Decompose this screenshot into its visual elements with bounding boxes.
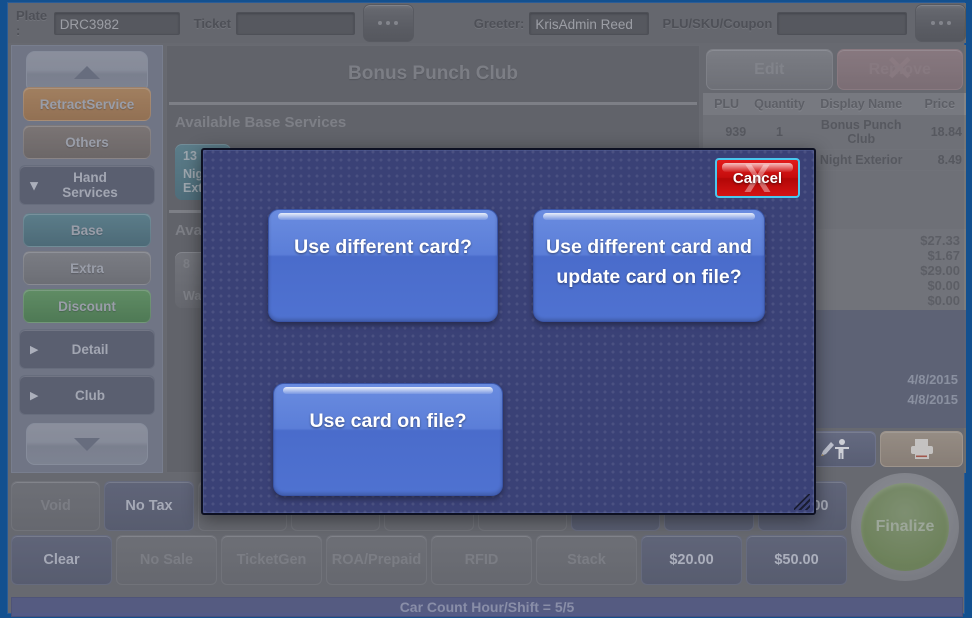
function-button-rfid[interactable]: RFID xyxy=(431,535,532,585)
chevron-down-icon: ▾ xyxy=(20,176,48,194)
greeter-input[interactable]: KrisAdmin Reed xyxy=(529,12,648,35)
page-title: Bonus Punch Club xyxy=(167,46,699,102)
printer-icon-button[interactable] xyxy=(880,431,963,467)
table-header-row: PLU Quantity Display Name Price xyxy=(703,93,966,115)
cancel-button[interactable]: X Cancel xyxy=(715,158,800,198)
use-different-card-label: Use different card? xyxy=(282,232,484,262)
customer-date-1: 4/8/2015 xyxy=(907,370,958,390)
use-different-card-and-update-label: Use different card and update card on fi… xyxy=(534,232,764,292)
finalize-button-label: Finalize xyxy=(861,483,949,571)
cancel-button-label: Cancel xyxy=(733,170,782,187)
function-button-label: Clear xyxy=(43,552,79,568)
ticket-more-button[interactable] xyxy=(363,4,414,42)
function-button-20-00[interactable]: $20.00 xyxy=(641,535,742,585)
dot-icon xyxy=(378,21,382,25)
dot-icon xyxy=(939,21,943,25)
table-row[interactable]: 939 1 Bonus Punch Club 18.84 xyxy=(703,115,966,150)
function-button-label: TicketGen xyxy=(237,552,307,568)
service-tile-number: 13 xyxy=(183,149,197,163)
function-button-50-00[interactable]: $50.00 xyxy=(746,535,847,585)
function-button-label: No Sale xyxy=(140,552,193,568)
edit-person-icon xyxy=(818,438,852,460)
sidebar-section-label: Hand Services xyxy=(48,170,154,200)
printer-icon xyxy=(908,438,936,460)
function-button-label: $50.00 xyxy=(774,552,818,568)
services-sidebar: RetractService Others ▾ Hand Services Ba… xyxy=(11,45,163,473)
function-button-label: $20.00 xyxy=(669,552,713,568)
column-header-quantity: Quantity xyxy=(750,93,809,115)
sidebar-button-label: Extra xyxy=(70,261,104,276)
function-button-label: No Tax xyxy=(125,498,172,514)
cell-price: 8.49 xyxy=(914,150,966,171)
ticket-actions: Edit ✕ Remove xyxy=(703,45,966,93)
sidebar-button-label: Discount xyxy=(58,299,116,314)
sidebar-button-label: RetractService xyxy=(40,97,135,112)
sidebar-button-others[interactable]: Others xyxy=(23,125,151,159)
use-card-on-file-button[interactable]: Use card on file? xyxy=(273,383,503,496)
sidebar-button-label: Others xyxy=(65,135,109,150)
function-button-ticketgen[interactable]: TicketGen xyxy=(221,535,322,585)
cell-price: 18.84 xyxy=(914,115,966,150)
cell-quantity: 1 xyxy=(750,115,809,150)
sidebar-section-detail[interactable]: ▸ Detail xyxy=(19,329,155,369)
function-button-label: RFID xyxy=(465,552,499,568)
ticket-label: Ticket xyxy=(194,16,231,31)
function-button-stack[interactable]: Stack xyxy=(536,535,637,585)
function-button-label: Stack xyxy=(567,552,606,568)
function-button-roa-prepaid[interactable]: ROA/Prepaid xyxy=(326,535,427,585)
function-button-void[interactable]: Void xyxy=(11,481,100,531)
sidebar-button-extra[interactable]: Extra xyxy=(23,251,151,285)
column-header-price: Price xyxy=(914,93,966,115)
service-tile-number: 8 xyxy=(183,257,190,271)
sidebar-button-label: Base xyxy=(71,223,103,238)
card-choice-dialog: X Cancel Use different card? Use differe… xyxy=(201,148,816,515)
plu-label: PLU/SKU/Coupon xyxy=(663,16,773,31)
sidebar-section-label: Detail xyxy=(48,342,154,357)
sidebar-scroll-down-button[interactable] xyxy=(26,423,148,465)
base-services-header: Available Base Services xyxy=(167,105,699,139)
function-button-no-tax[interactable]: No Tax xyxy=(104,481,193,531)
function-button-label: Void xyxy=(40,498,70,514)
sidebar-button-base[interactable]: Base xyxy=(23,213,151,247)
column-header-display-name: Display Name xyxy=(809,93,914,115)
remove-button-label: Remove xyxy=(869,61,931,79)
function-row-2: ClearNo SaleTicketGenROA/PrepaidRFIDStac… xyxy=(11,535,963,585)
function-button-no-sale[interactable]: No Sale xyxy=(116,535,217,585)
sidebar-section-club[interactable]: ▸ Club xyxy=(19,375,155,415)
use-different-card-button[interactable]: Use different card? xyxy=(268,209,498,322)
cell-display-name: Bonus Punch Club xyxy=(809,115,914,150)
plu-more-button[interactable] xyxy=(915,4,966,42)
column-header-plu: PLU xyxy=(703,93,750,115)
dot-icon xyxy=(394,21,398,25)
ticket-input[interactable] xyxy=(236,12,355,35)
dot-icon xyxy=(386,21,390,25)
plu-input[interactable] xyxy=(777,12,907,35)
dot-icon xyxy=(947,21,951,25)
plate-label: Plate : xyxy=(16,8,49,38)
plate-input[interactable]: DRC3982 xyxy=(54,12,180,35)
app-content: Plate : DRC3982 Ticket Greeter: KrisAdmi… xyxy=(7,2,965,614)
function-button-label: ROA/Prepaid xyxy=(332,552,421,568)
chevron-right-icon: ▸ xyxy=(20,340,48,358)
status-bar: Car Count Hour/Shift = 5/5 xyxy=(11,597,963,617)
use-card-on-file-label: Use card on file? xyxy=(297,406,478,436)
chevron-right-icon: ▸ xyxy=(20,386,48,404)
chevron-down-icon xyxy=(74,438,100,451)
cell-display-name: Night Exterior xyxy=(809,150,914,171)
sidebar-section-hand-services[interactable]: ▾ Hand Services xyxy=(19,165,155,205)
customer-dates: 4/8/2015 4/8/2015 xyxy=(907,370,958,410)
cell-plu: 939 xyxy=(703,115,750,150)
sidebar-button-discount[interactable]: Discount xyxy=(23,289,151,323)
resize-grip-icon[interactable] xyxy=(794,494,810,510)
use-different-card-and-update-button[interactable]: Use different card and update card on fi… xyxy=(533,209,765,322)
edit-button[interactable]: Edit xyxy=(706,49,833,90)
chevron-up-icon xyxy=(74,66,100,79)
finalize-button[interactable]: Finalize xyxy=(851,473,959,581)
pos-application-window: Plate : DRC3982 Ticket Greeter: KrisAdmi… xyxy=(0,0,972,618)
dot-icon xyxy=(931,21,935,25)
status-bar-text: Car Count Hour/Shift = 5/5 xyxy=(400,599,575,615)
edit-button-label: Edit xyxy=(754,61,784,79)
sidebar-section-label: Club xyxy=(48,388,154,403)
remove-button[interactable]: ✕ Remove xyxy=(837,49,964,90)
top-toolbar: Plate : DRC3982 Ticket Greeter: KrisAdmi… xyxy=(8,3,966,43)
sidebar-button-retractservice[interactable]: RetractService xyxy=(23,87,151,121)
customer-date-2: 4/8/2015 xyxy=(907,390,958,410)
greeter-label: Greeter: xyxy=(474,16,525,31)
function-button-clear[interactable]: Clear xyxy=(11,535,112,585)
